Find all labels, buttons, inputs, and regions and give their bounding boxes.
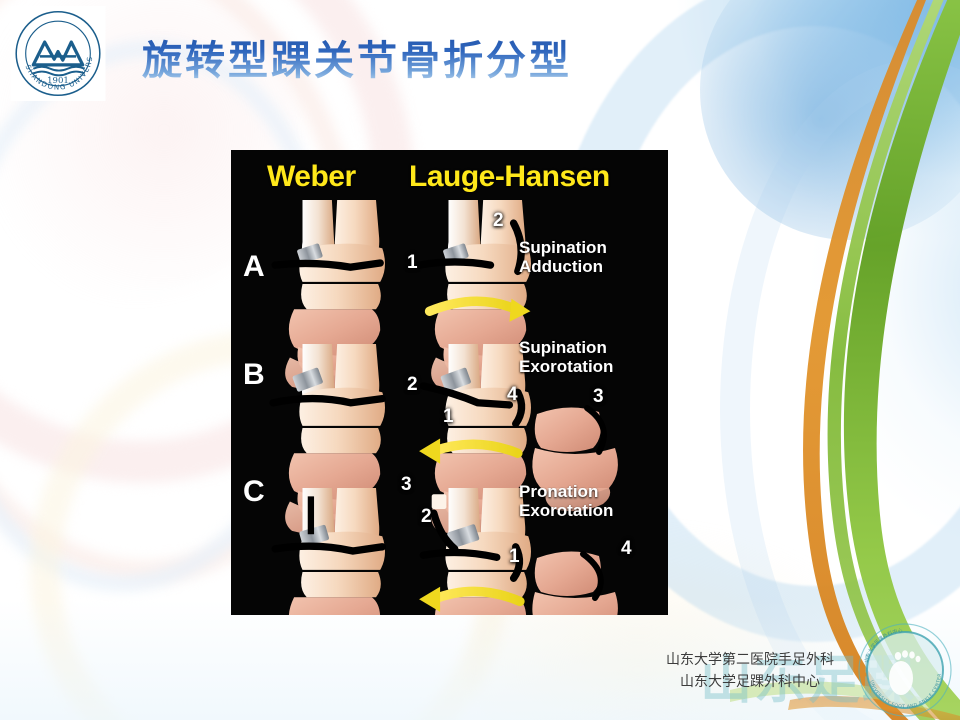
marker-c-1: 1 [509, 546, 520, 568]
marker-a-1: 1 [407, 252, 418, 274]
shandong-university-logo: 1901 SHANDONG UNIVERSITY [8, 6, 108, 101]
footer-line-1: 山东大学第二医院手足外科 [600, 650, 900, 672]
marker-b-4: 4 [507, 384, 518, 406]
caption-row-a: Supination Adduction [519, 238, 607, 276]
figure-header-weber: Weber [267, 160, 356, 194]
marker-b-1: 1 [443, 406, 454, 428]
marker-c-4: 4 [621, 538, 632, 560]
marker-b-3: 3 [593, 386, 604, 408]
caption-row-c-line1: Pronation [519, 482, 613, 501]
classification-figure: Weber Lauge-Hansen [231, 150, 668, 615]
caption-row-c: Pronation Exorotation [519, 482, 613, 520]
marker-a-2: 2 [493, 210, 504, 232]
figure-header-lauge-hansen: Lauge-Hansen [409, 160, 610, 194]
caption-row-b-line1: Supination [519, 338, 613, 357]
row-letter-b: B [243, 358, 265, 392]
footer-line-2: 山东大学足踝外科中心 [600, 672, 900, 694]
caption-row-c-line2: Exorotation [519, 501, 613, 520]
marker-c-2: 2 [421, 506, 432, 528]
caption-row-a-line1: Supination [519, 238, 607, 257]
row-letter-c: C [243, 475, 265, 509]
caption-row-a-line2: Adduction [519, 257, 607, 276]
caption-row-b: Supination Exorotation [519, 338, 613, 376]
footer-credits: 山东大学第二医院手足外科 山东大学足踝外科中心 [600, 650, 900, 693]
row-letter-a: A [243, 250, 265, 284]
marker-b-2: 2 [407, 374, 418, 396]
caption-row-b-line2: Exorotation [519, 357, 613, 376]
marker-c-3: 3 [401, 474, 412, 496]
page-title: 旋转型踝关节骨折分型 [142, 28, 572, 86]
